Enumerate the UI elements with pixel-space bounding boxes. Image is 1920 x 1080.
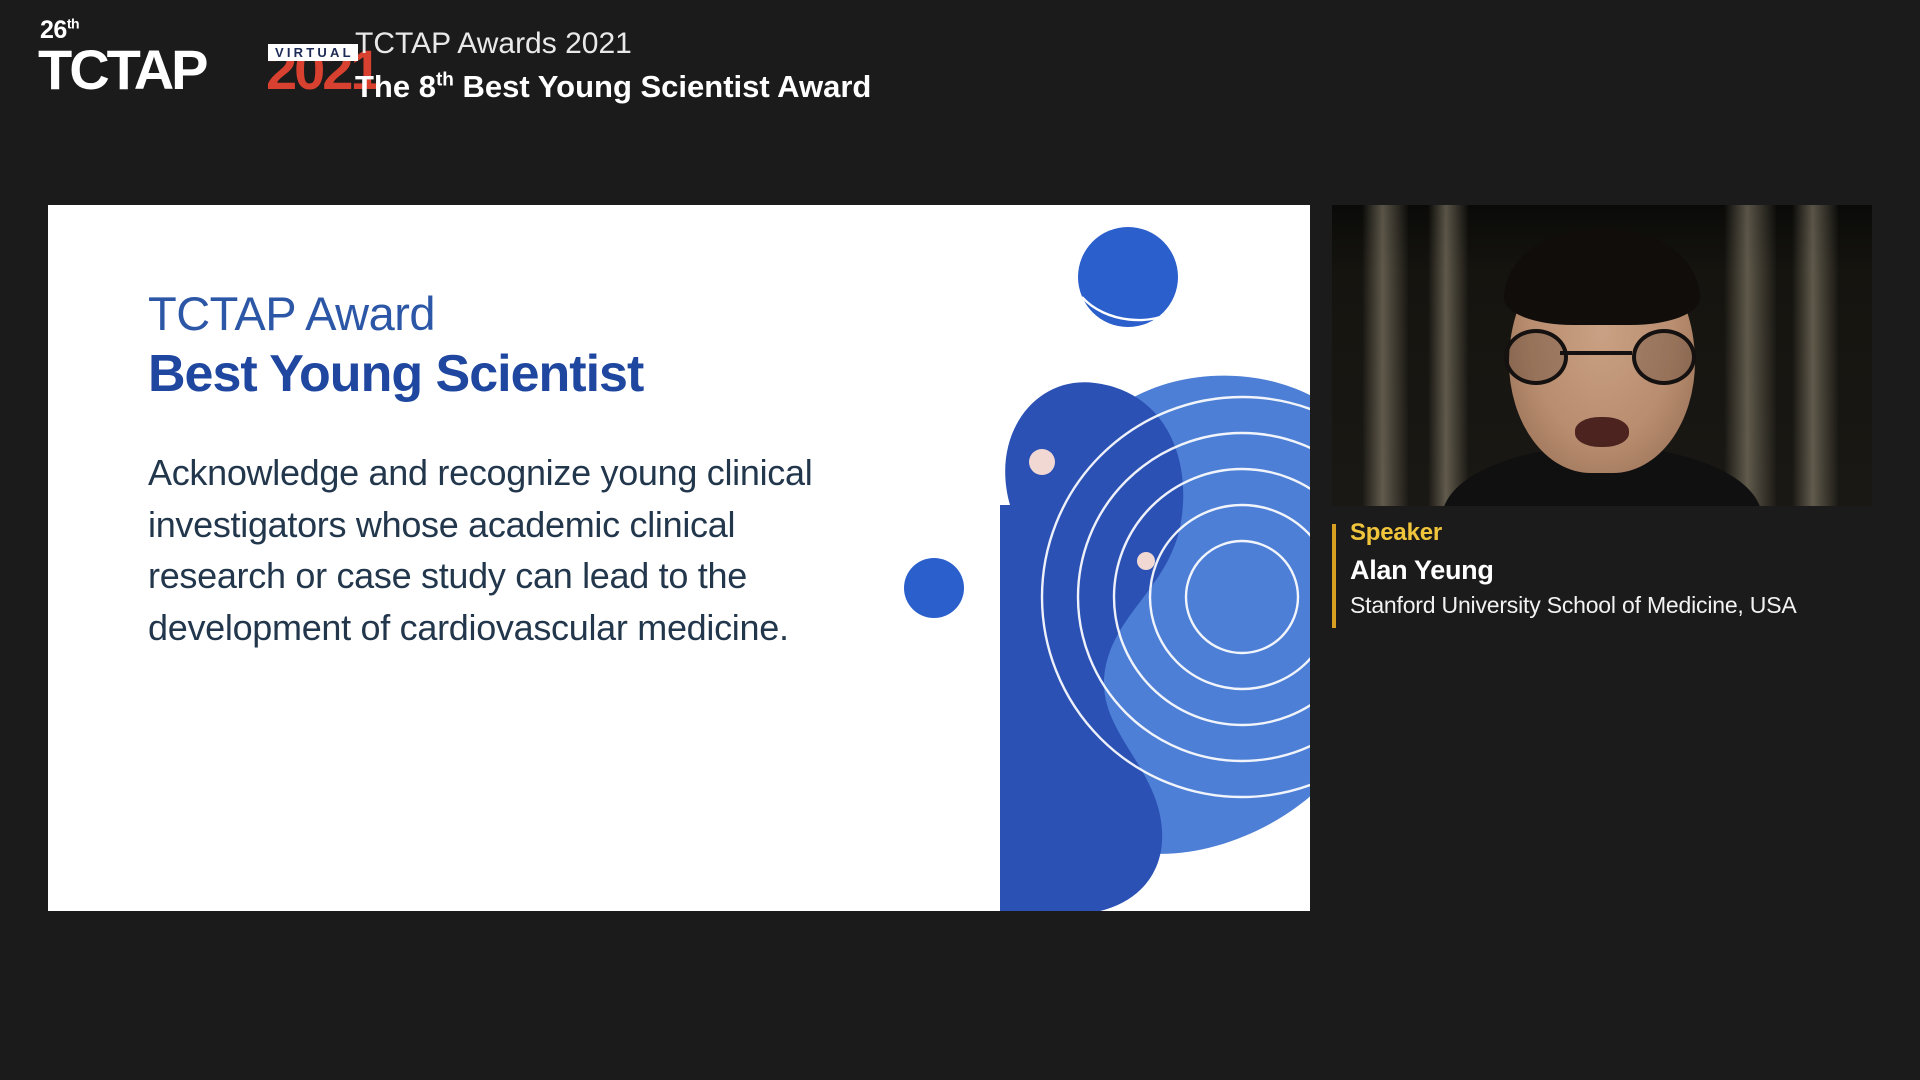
logo-wordmark: TCTAP xyxy=(38,42,206,98)
slide-decoration-graphic xyxy=(890,205,1310,911)
speaker-hair xyxy=(1504,229,1700,325)
decorative-blobs-svg xyxy=(890,205,1310,911)
speaker-affiliation: Stanford University School of Medicine, … xyxy=(1350,591,1850,620)
event-header: 26th TCTAP 2021 VIRTUAL TCTAP Awards 202… xyxy=(0,0,1920,140)
speaker-info-panel: Speaker Alan Yeung Stanford University S… xyxy=(1332,518,1910,620)
curtain-fold xyxy=(1792,205,1838,506)
speaker-name: Alan Yeung xyxy=(1350,553,1910,588)
award-kicker: TCTAP Award xyxy=(148,287,918,341)
speaker-role-label: Speaker xyxy=(1350,518,1910,548)
webinar-stage: 26th TCTAP 2021 VIRTUAL TCTAP Awards 202… xyxy=(0,0,1920,1080)
curtain-fold xyxy=(1724,205,1776,506)
header-event-name: TCTAP Awards 2021 xyxy=(355,25,871,63)
circle-top xyxy=(1078,227,1178,327)
header-award-rest: Best Young Scientist Award xyxy=(454,69,871,104)
speaker-video-tile[interactable] xyxy=(1332,205,1872,506)
eyeglasses-right-lens xyxy=(1632,329,1696,385)
header-titles: TCTAP Awards 2021 The 8th Best Young Sci… xyxy=(355,25,871,107)
tctap-logo: 26th TCTAP 2021 VIRTUAL xyxy=(38,18,338,98)
eyeglasses-bridge xyxy=(1560,351,1632,355)
speaker-mouth xyxy=(1575,417,1629,447)
dot-pink-lower xyxy=(1137,552,1155,570)
logo-edition-suffix: th xyxy=(67,16,79,32)
award-title: Best Young Scientist xyxy=(148,343,918,405)
award-description: Acknowledge and recognize young clinical… xyxy=(148,447,868,653)
eyeglasses-left-lens xyxy=(1504,329,1568,385)
header-award-prefix: The 8 xyxy=(355,69,436,104)
curtain-fold xyxy=(1428,205,1468,506)
video-background xyxy=(1332,205,1872,506)
logo-virtual-badge: VIRTUAL xyxy=(268,44,358,61)
presentation-slide: TCTAP Award Best Young Scientist Acknowl… xyxy=(48,205,1310,911)
slide-text-block: TCTAP Award Best Young Scientist Acknowl… xyxy=(148,287,918,653)
curtain-fold xyxy=(1362,205,1408,506)
header-award-name: The 8th Best Young Scientist Award xyxy=(355,67,871,107)
speaker-accent-bar xyxy=(1332,524,1336,628)
header-award-ordinal-suffix: th xyxy=(436,69,454,90)
dot-pink-upper xyxy=(1029,449,1055,475)
